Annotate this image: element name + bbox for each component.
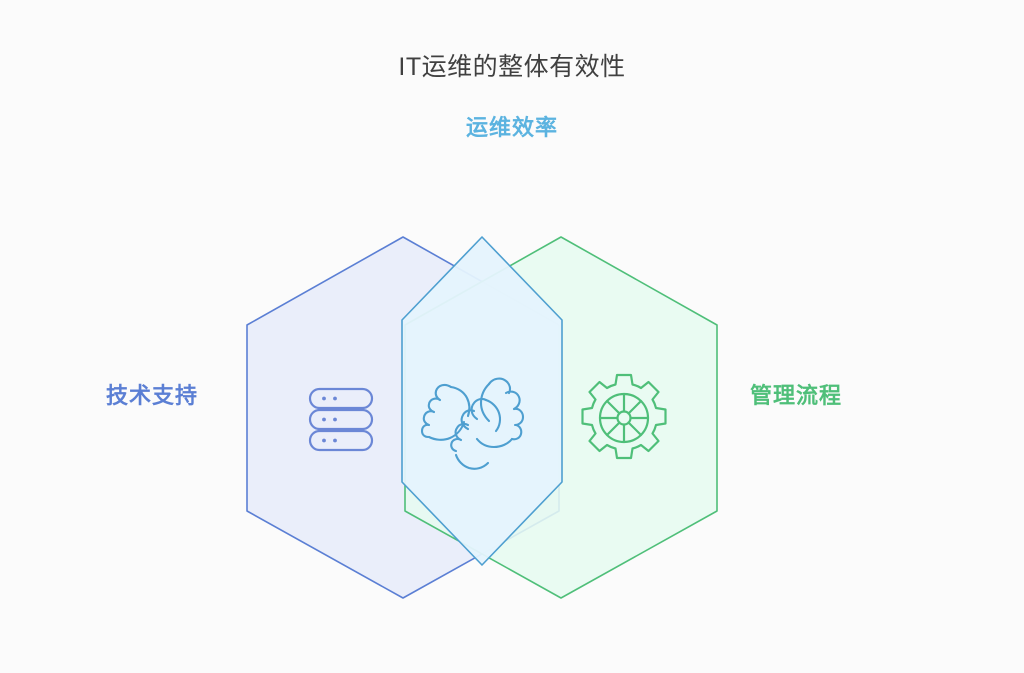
diagram-stage: IT运维的整体有效性 运维效率 技术支持 管理流程 bbox=[0, 0, 1024, 673]
hexagon-venn-diagram bbox=[0, 0, 1024, 673]
